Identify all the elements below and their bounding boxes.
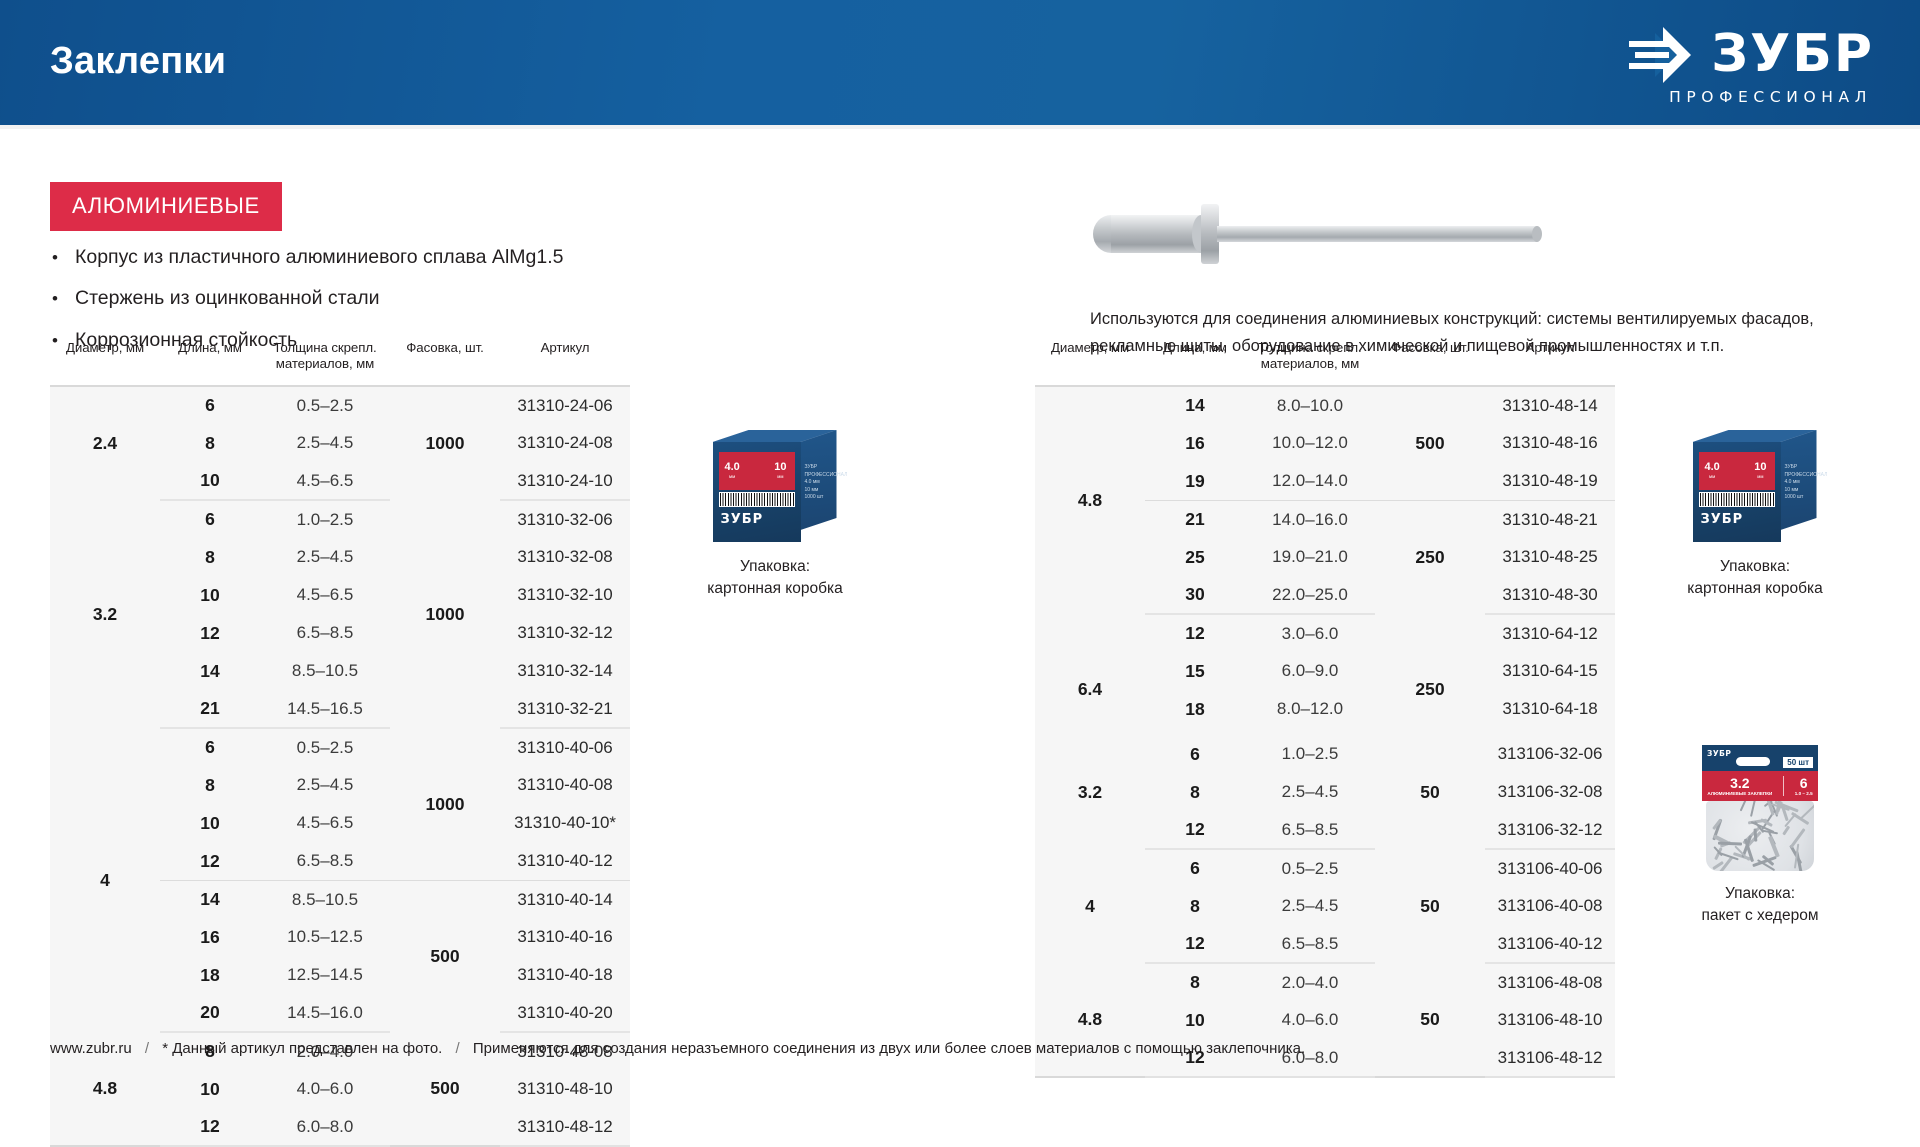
col-header-pack: Фасовка, шт. bbox=[1375, 340, 1485, 386]
footnote-photo: * Данный артикул представлен на фото. bbox=[162, 1040, 442, 1057]
cell-article: 31310-24-06 bbox=[500, 386, 630, 424]
barcode-icon bbox=[1699, 492, 1775, 507]
box-brand-logo: ЗУБР bbox=[721, 512, 764, 527]
packaging-caption: Упаковка:пакет с хедером bbox=[1665, 883, 1855, 927]
cell-thickness: 4.5–6.5 bbox=[260, 462, 390, 500]
packaging-caption: Упаковка:картонная коробка bbox=[1660, 556, 1850, 600]
cell-thickness: 1.0–2.5 bbox=[260, 500, 390, 538]
cell-length: 8 bbox=[1145, 887, 1245, 925]
cell-diameter: 4 bbox=[50, 728, 160, 1032]
cell-article: 31310-40-08 bbox=[500, 766, 630, 804]
page-title: Заклепки bbox=[50, 40, 226, 83]
packaging-caption: Упаковка:картонная коробка bbox=[680, 556, 870, 600]
euro-hole-icon bbox=[1736, 757, 1770, 766]
cell-pack-qty: 50 bbox=[1375, 735, 1485, 849]
cell-thickness: 19.0–21.0 bbox=[1245, 538, 1375, 576]
cell-article: 31310-64-18 bbox=[1485, 690, 1615, 728]
cell-length: 10 bbox=[1145, 1001, 1245, 1039]
packaging-figure-bag: ЗУБР 50 шт 3.2АЛЮМИНИЕВЫЕ ЗАКЛЕПКИ 61.0 … bbox=[1665, 745, 1855, 927]
cell-thickness: 0.5–2.5 bbox=[1245, 849, 1375, 887]
cell-article: 31310-64-15 bbox=[1485, 652, 1615, 690]
cell-article: 31310-32-14 bbox=[500, 652, 630, 690]
barcode-icon bbox=[719, 492, 795, 507]
brand-name: ЗУБР bbox=[1711, 29, 1874, 80]
cell-thickness: 0.5–2.5 bbox=[260, 728, 390, 766]
cell-thickness: 12.5–14.5 bbox=[260, 956, 390, 994]
cell-thickness: 14.5–16.5 bbox=[260, 690, 390, 728]
cell-thickness: 2.5–4.5 bbox=[1245, 773, 1375, 811]
cell-pack-qty: 500 bbox=[390, 880, 500, 1032]
rivet-icon bbox=[1750, 801, 1758, 817]
cell-article: 31310-48-10 bbox=[500, 1070, 630, 1108]
feature-text: Стержень из оцинкованной стали bbox=[75, 286, 380, 311]
cell-length: 12 bbox=[1145, 925, 1245, 963]
cell-article: 31310-64-12 bbox=[1485, 614, 1615, 652]
table-row: 3.261.0–2.5100031310-32-06 bbox=[50, 500, 630, 538]
cell-length: 12 bbox=[160, 1108, 260, 1146]
cell-length: 8 bbox=[160, 424, 260, 462]
feature-text: Корпус из пластичного алюминиевого сплав… bbox=[75, 245, 563, 270]
cell-article: 31310-48-14 bbox=[1485, 386, 1615, 424]
cell-length: 19 bbox=[1145, 462, 1245, 500]
cell-thickness: 0.5–2.5 bbox=[260, 386, 390, 424]
cell-pack-qty: 50 bbox=[1375, 849, 1485, 963]
specs-table-aluminium-box-left: Диаметр, мм Длина, мм Толщина скрепл.мат… bbox=[50, 340, 630, 1147]
cell-diameter: 4.8 bbox=[1035, 386, 1145, 614]
cell-length: 18 bbox=[160, 956, 260, 994]
cell-article: 313106-48-10 bbox=[1485, 1001, 1615, 1039]
cell-article: 31310-32-08 bbox=[500, 538, 630, 576]
zubr-arrow-icon bbox=[1625, 25, 1693, 85]
cell-pack-qty: 1000 bbox=[390, 386, 500, 500]
cell-article: 313106-48-12 bbox=[1485, 1039, 1615, 1077]
bag-image: ЗУБР 50 шт 3.2АЛЮМИНИЕВЫЕ ЗАКЛЕПКИ 61.0 … bbox=[1696, 745, 1824, 873]
cell-length: 6 bbox=[1145, 849, 1245, 887]
cell-diameter: 3.2 bbox=[1035, 735, 1145, 849]
cell-thickness: 6.0–9.0 bbox=[1245, 652, 1375, 690]
box-red-label: 4.0мм 10мм bbox=[1699, 452, 1775, 490]
cell-thickness: 2.5–4.5 bbox=[260, 766, 390, 804]
cell-thickness: 6.5–8.5 bbox=[1245, 925, 1375, 963]
cell-thickness: 6.5–8.5 bbox=[260, 614, 390, 652]
cell-diameter: 4.8 bbox=[1035, 963, 1145, 1077]
cell-length: 12 bbox=[1145, 811, 1245, 849]
cell-length: 12 bbox=[160, 842, 260, 880]
cell-thickness: 14.5–16.0 bbox=[260, 994, 390, 1032]
footer: www.zubr.ru / * Данный артикул представл… bbox=[50, 1040, 1305, 1057]
cell-article: 31310-48-25 bbox=[1485, 538, 1615, 576]
cell-length: 6 bbox=[1145, 735, 1245, 773]
cell-length: 8 bbox=[160, 766, 260, 804]
cell-length: 10 bbox=[160, 1070, 260, 1108]
cell-thickness: 4.5–6.5 bbox=[260, 576, 390, 614]
table-row: 4.8148.0–10.050031310-48-14 bbox=[1035, 386, 1615, 424]
specs-table-aluminium-bag: 3.261.0–2.550313106-32-0682.5–4.5313106-… bbox=[1035, 735, 1615, 1078]
cell-article: 31310-48-19 bbox=[1485, 462, 1615, 500]
cell-length: 14 bbox=[1145, 386, 1245, 424]
table-row: 4.882.0–4.050313106-48-08 bbox=[1035, 963, 1615, 1001]
cell-article: 31310-48-16 bbox=[1485, 424, 1615, 462]
brand-subtitle: ПРОФЕССИОНАЛ bbox=[1669, 88, 1872, 106]
rivet-icon bbox=[1768, 836, 1780, 858]
cell-thickness: 8.0–10.0 bbox=[1245, 386, 1375, 424]
cell-article: 31310-32-06 bbox=[500, 500, 630, 538]
cell-length: 16 bbox=[160, 918, 260, 956]
col-header-thickness: Толщина скрепл.материалов, мм bbox=[1245, 340, 1375, 386]
cell-thickness: 6.0–8.0 bbox=[260, 1108, 390, 1146]
cell-thickness: 2.5–4.5 bbox=[260, 538, 390, 576]
cell-thickness: 8.5–10.5 bbox=[260, 652, 390, 690]
cell-length: 16 bbox=[1145, 424, 1245, 462]
cell-article: 31310-40-20 bbox=[500, 994, 630, 1032]
cell-thickness: 22.0–25.0 bbox=[1245, 576, 1375, 614]
footnote-usage: Применяются для создания неразъемного со… bbox=[473, 1040, 1305, 1057]
table-row: 2.460.5–2.5100031310-24-06 bbox=[50, 386, 630, 424]
rivet-icon bbox=[1782, 826, 1790, 836]
list-item: • Стержень из оцинкованной стали bbox=[52, 286, 752, 311]
cell-thickness: 4.0–6.0 bbox=[260, 1070, 390, 1108]
cell-article: 31310-48-21 bbox=[1485, 500, 1615, 538]
rivet-product-photo bbox=[1075, 168, 1575, 278]
cell-length: 30 bbox=[1145, 576, 1245, 614]
cell-length: 15 bbox=[1145, 652, 1245, 690]
cell-article: 313106-48-08 bbox=[1485, 963, 1615, 1001]
cell-thickness: 8.5–10.5 bbox=[260, 880, 390, 918]
bullet-dot-icon: • bbox=[52, 290, 59, 307]
brand-logo: ЗУБР ПРОФЕССИОНАЛ bbox=[1625, 24, 1874, 106]
cell-thickness: 4.5–6.5 bbox=[260, 804, 390, 842]
bag-brand: ЗУБР bbox=[1707, 749, 1731, 758]
cell-diameter: 4 bbox=[1035, 849, 1145, 963]
table-row: 3.261.0–2.550313106-32-06 bbox=[1035, 735, 1615, 773]
rivets-pile bbox=[1706, 801, 1814, 871]
cell-article: 313106-32-08 bbox=[1485, 773, 1615, 811]
list-item: • Корпус из пластичного алюминиевого спл… bbox=[52, 245, 752, 270]
category-badge: АЛЮМИНИЕВЫЕ bbox=[50, 182, 282, 231]
packaging-figure-carton-left: ЗУБРПРОФЕССИОНАЛ4.0 мм10 мм1000 шт 4.0мм… bbox=[680, 428, 870, 600]
cell-article: 313106-32-12 bbox=[1485, 811, 1615, 849]
website-link[interactable]: www.zubr.ru bbox=[50, 1040, 132, 1057]
cell-length: 8 bbox=[1145, 963, 1245, 1001]
cell-article: 31310-40-16 bbox=[500, 918, 630, 956]
box-brand-logo: ЗУБР bbox=[1701, 512, 1744, 527]
cell-article: 31310-32-21 bbox=[500, 690, 630, 728]
cell-length: 21 bbox=[1145, 500, 1245, 538]
cell-article: 313106-40-06 bbox=[1485, 849, 1615, 887]
cell-thickness: 2.0–4.0 bbox=[1245, 963, 1375, 1001]
cell-thickness: 10.5–12.5 bbox=[260, 918, 390, 956]
cell-thickness: 2.5–4.5 bbox=[260, 424, 390, 462]
cell-pack-qty: 500 bbox=[1375, 386, 1485, 500]
col-header-length: Длина, мм bbox=[160, 340, 260, 386]
col-header-diameter: Диаметр, мм bbox=[1035, 340, 1145, 386]
cell-thickness: 6.5–8.5 bbox=[1245, 811, 1375, 849]
cell-pack-qty: 1000 bbox=[390, 728, 500, 880]
cell-thickness: 2.5–4.5 bbox=[1245, 887, 1375, 925]
cell-article: 313106-32-06 bbox=[1485, 735, 1615, 773]
table-row: 460.5–2.5100031310-40-06 bbox=[50, 728, 630, 766]
cell-article: 31310-48-12 bbox=[500, 1108, 630, 1146]
cell-thickness: 14.0–16.0 bbox=[1245, 500, 1375, 538]
bag-quantity: 50 шт bbox=[1783, 757, 1813, 768]
box-red-label: 4.0мм 10мм bbox=[719, 452, 795, 490]
cell-length: 20 bbox=[160, 994, 260, 1032]
bag-red-label: 3.2АЛЮМИНИЕВЫЕ ЗАКЛЕПКИ 61.0 – 2.5 bbox=[1702, 771, 1818, 801]
cell-article: 31310-40-10* bbox=[500, 804, 630, 842]
cell-article: 31310-40-18 bbox=[500, 956, 630, 994]
rivet-icon bbox=[1740, 801, 1748, 812]
cell-thickness: 12.0–14.0 bbox=[1245, 462, 1375, 500]
cell-length: 6 bbox=[160, 500, 260, 538]
cell-thickness: 8.0–12.0 bbox=[1245, 690, 1375, 728]
carton-box-image: ЗУБРПРОФЕССИОНАЛ4.0 мм10 мм1000 шт 4.0мм… bbox=[1693, 428, 1818, 546]
col-header-length: Длина, мм bbox=[1145, 340, 1245, 386]
cell-length: 8 bbox=[160, 538, 260, 576]
cell-length: 12 bbox=[1145, 614, 1245, 652]
footer-separator: / bbox=[145, 1040, 149, 1057]
rivet-icon bbox=[1800, 802, 1814, 820]
cell-length: 6 bbox=[160, 386, 260, 424]
cell-pack-qty: 1000 bbox=[390, 500, 500, 728]
cell-length: 18 bbox=[1145, 690, 1245, 728]
cell-length: 10 bbox=[160, 576, 260, 614]
cell-thickness: 1.0–2.5 bbox=[1245, 735, 1375, 773]
cell-diameter: 2.4 bbox=[50, 386, 160, 500]
cell-thickness: 6.5–8.5 bbox=[260, 842, 390, 880]
footer-separator: / bbox=[456, 1040, 460, 1057]
cell-length: 21 bbox=[160, 690, 260, 728]
cell-length: 25 bbox=[1145, 538, 1245, 576]
cell-length: 14 bbox=[160, 880, 260, 918]
carton-box-image: ЗУБРПРОФЕССИОНАЛ4.0 мм10 мм1000 шт 4.0мм… bbox=[713, 428, 838, 546]
cell-pack-qty: 50 bbox=[1375, 963, 1485, 1077]
table-row: 6.4123.0–6.025031310-64-12 bbox=[1035, 614, 1615, 652]
bullet-dot-icon: • bbox=[52, 249, 59, 266]
cell-article: 31310-24-10 bbox=[500, 462, 630, 500]
cell-length: 10 bbox=[160, 804, 260, 842]
table-row: 460.5–2.550313106-40-06 bbox=[1035, 849, 1615, 887]
col-header-article: Артикул bbox=[1485, 340, 1615, 386]
cell-article: 31310-24-08 bbox=[500, 424, 630, 462]
packaging-figure-carton-right: ЗУБРПРОФЕССИОНАЛ4.0 мм10 мм1000 шт 4.0мм… bbox=[1660, 428, 1850, 600]
cell-thickness: 3.0–6.0 bbox=[1245, 614, 1375, 652]
col-header-diameter: Диаметр, мм bbox=[50, 340, 160, 386]
cell-article: 31310-40-12 bbox=[500, 842, 630, 880]
col-header-article: Артикул bbox=[500, 340, 630, 386]
cell-length: 8 bbox=[1145, 773, 1245, 811]
cell-pack-qty: 250 bbox=[1375, 500, 1485, 614]
col-header-pack: Фасовка, шт. bbox=[390, 340, 500, 386]
cell-length: 10 bbox=[160, 462, 260, 500]
cell-length: 14 bbox=[160, 652, 260, 690]
cell-article: 31310-48-30 bbox=[1485, 576, 1615, 614]
cell-length: 12 bbox=[160, 614, 260, 652]
cell-article: 31310-32-12 bbox=[500, 614, 630, 652]
cell-article: 31310-40-14 bbox=[500, 880, 630, 918]
cell-article: 313106-40-12 bbox=[1485, 925, 1615, 963]
cell-length: 6 bbox=[160, 728, 260, 766]
specs-table-aluminium-box-right: Диаметр, мм Длина, мм Толщина скрепл.мат… bbox=[1035, 340, 1615, 767]
cell-article: 313106-40-08 bbox=[1485, 887, 1615, 925]
page-header: Заклепки ЗУБР ПРОФЕССИОНАЛ bbox=[0, 0, 1920, 129]
cell-thickness: 4.0–6.0 bbox=[1245, 1001, 1375, 1039]
cell-thickness: 10.0–12.0 bbox=[1245, 424, 1375, 462]
table-header-row: Диаметр, мм Длина, мм Толщина скрепл.мат… bbox=[1035, 340, 1615, 386]
col-header-thickness: Толщина скрепл.материалов, мм bbox=[260, 340, 390, 386]
cell-diameter: 3.2 bbox=[50, 500, 160, 728]
cell-article: 31310-32-10 bbox=[500, 576, 630, 614]
table-header-row: Диаметр, мм Длина, мм Толщина скрепл.мат… bbox=[50, 340, 630, 386]
cell-article: 31310-40-06 bbox=[500, 728, 630, 766]
